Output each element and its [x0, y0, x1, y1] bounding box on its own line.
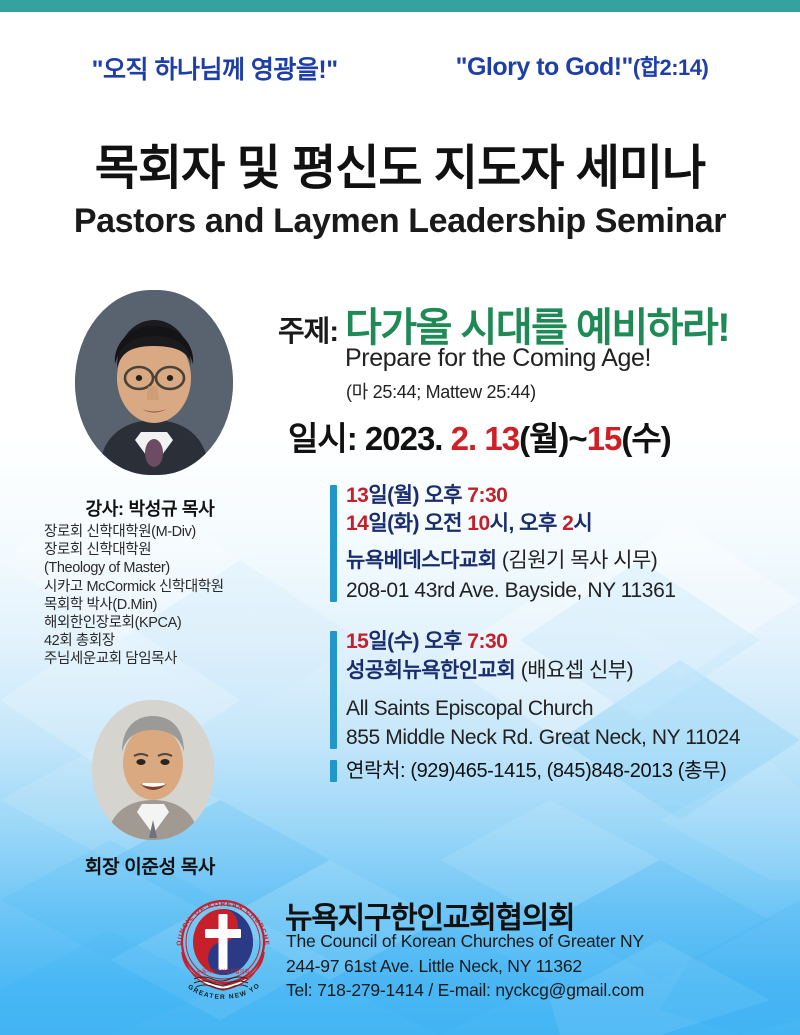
page-title-english: Pastors and Laymen Leadership Seminar	[0, 202, 800, 241]
organization-phone-email: Tel: 718-279-1414 / E-mail: nyckcg@gmail…	[286, 978, 644, 1003]
speaker-photo	[75, 290, 233, 475]
top-accent-bar	[0, 0, 800, 12]
contact-line: 연락처: (929)465-1415, (845)848-2013 (총무)	[346, 757, 726, 785]
bio-line: 42회 총회장	[44, 632, 309, 650]
speaker-name: 강사: 박성규 목사	[0, 495, 300, 521]
bio-line: 장로회 신학대학원	[44, 541, 309, 559]
bio-line: 해외한인장로회(KPCA)	[44, 614, 309, 632]
venue-note: (김원기 목사 시무)	[502, 549, 657, 572]
venue-name-korean: 뉴욕베데스다교회 (김원기 목사 시무)	[346, 546, 676, 576]
date-end-day: 15	[587, 420, 622, 457]
spacer	[346, 538, 676, 546]
venue-name-text: 뉴욕베데스다교회	[346, 549, 497, 572]
bio-line: 시카고 McCormick 신학대학원	[44, 578, 309, 596]
bio-line: 목회학 박사(D.Min)	[44, 596, 309, 614]
venue-name-english: All Saints Episcopal Church	[346, 694, 740, 723]
date-year: 2023.	[365, 420, 443, 457]
bio-line: 장로회 신학대학원(M-Div)	[44, 523, 309, 541]
seminar-poster: "오직 하나님께 영광을!" "Glory to God!"(합2:14) 목회…	[0, 0, 800, 1035]
date-label: 일시:	[288, 420, 357, 457]
organization-contact-info: The Council of Korean Churches of Greate…	[286, 929, 644, 1003]
theme-label: 주제:	[278, 308, 338, 350]
venue-name-korean: 성공회뉴욕한인교회 (배요셉 신부)	[346, 656, 740, 686]
venue-note: (배요셉 신부)	[521, 659, 633, 682]
schedule-time-line: 13일(월) 오후 7:30	[346, 482, 676, 510]
svg-text:뉴욕지구한인교회협의회: 뉴욕지구한인교회협의회	[197, 967, 250, 975]
organization-logo: COUNCIL OF KOREAN CHURCHES 뉴욕지구한인교회협의회 O…	[168, 892, 278, 1000]
venue-address: 208-01 43rd Ave. Bayside, NY 11361	[346, 576, 676, 605]
event-date-line: 일시: 2023. 2. 13(월)~15(수)	[288, 412, 671, 460]
organization-address: 244-97 61st Ave. Little Neck, NY 11362	[286, 954, 644, 979]
venue-address: 855 Middle Neck Rd. Great Neck, NY 11024	[346, 723, 740, 752]
chairman-name: 회장 이준성 목사	[0, 852, 300, 879]
organization-name-english: The Council of Korean Churches of Greate…	[286, 929, 644, 954]
speaker-bio: 장로회 신학대학원(M-Div) 장로회 신학대학원 (Theology of …	[44, 523, 309, 669]
schedule-block-2: 15일(수) 오후 7:30 성공회뉴욕한인교회 (배요셉 신부) All Sa…	[330, 628, 740, 752]
chairman-photo	[92, 700, 214, 840]
bio-line: 주님세운교회 담임목사	[44, 650, 309, 668]
schedule-time-line: 15일(수) 오후 7:30	[346, 628, 740, 656]
date-start-dow: (월)	[519, 420, 568, 457]
slogan-scripture-ref: (합2:14)	[633, 55, 708, 80]
date-range-tilde: ~	[568, 420, 586, 457]
theme-title-english: Prepare for the Coming Age!	[345, 344, 651, 373]
date-month: 2.	[451, 420, 477, 457]
schedule-time-line: 14일(화) 오전 10시, 오후 2시	[346, 510, 676, 538]
slogan-row: "오직 하나님께 영광을!" "Glory to God!"(합2:14)	[0, 50, 800, 86]
date-end-dow: (수)	[621, 420, 670, 457]
theme-scripture-reference: (마 25:44; Mattew 25:44)	[346, 378, 536, 404]
date-start-day: 13	[484, 420, 519, 457]
venue-name-text: 성공회뉴욕한인교회	[346, 659, 515, 682]
schedule-block-1: 13일(월) 오후 7:30 14일(화) 오전 10시, 오후 2시 뉴욕베데…	[330, 482, 676, 605]
bio-line: (Theology of Master)	[44, 559, 309, 577]
slogan-english-text: "Glory to God!"	[456, 53, 633, 81]
slogan-english: "Glory to God!"(합2:14)	[456, 50, 709, 86]
spacer	[346, 686, 740, 694]
contact-block: 연락처: (929)465-1415, (845)848-2013 (총무)	[330, 757, 726, 785]
slogan-korean: "오직 하나님께 영광을!"	[92, 50, 338, 86]
page-title-korean: 목회자 및 평신도 지도자 세미나	[0, 128, 800, 198]
